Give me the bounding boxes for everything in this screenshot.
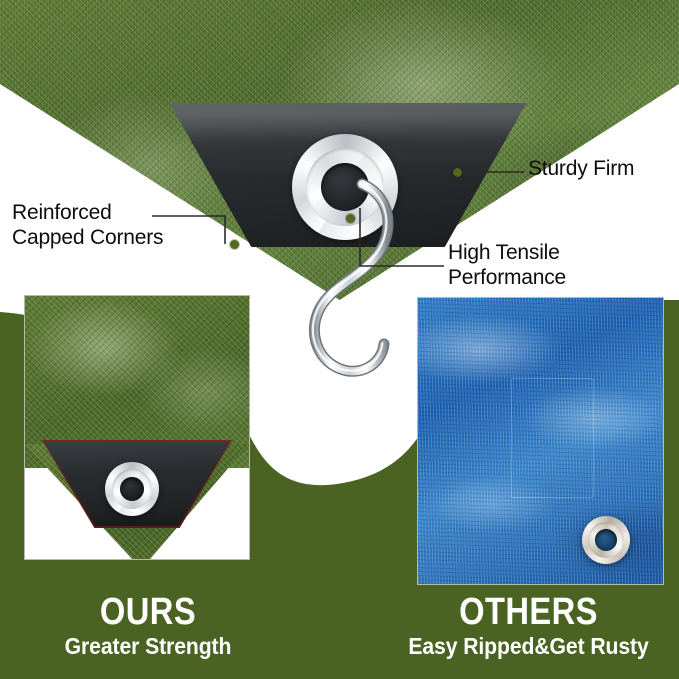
- callout-line: Capped Corners: [12, 225, 163, 250]
- grommet-hole: [595, 529, 617, 551]
- marker-dot-sturdy: [453, 168, 462, 177]
- ours-caption: OURS Greater Strength: [0, 592, 296, 660]
- ours-product-photo: [24, 295, 250, 560]
- ours-title: OURS: [21, 592, 276, 632]
- others-caption: OTHERS Easy Ripped&Get Rusty: [378, 592, 679, 660]
- marker-dot-tensile: [346, 214, 355, 223]
- callout-sturdy-firm: Sturdy Firm: [528, 156, 634, 181]
- others-subtitle: Easy Ripped&Get Rusty: [390, 632, 667, 660]
- callout-line: Performance: [448, 265, 566, 290]
- callout-high-tensile-performance: High Tensile Performance: [448, 240, 566, 290]
- callout-line: Reinforced: [12, 200, 163, 225]
- callout-line: High Tensile: [448, 240, 566, 265]
- marker-dot-reinforced: [230, 240, 239, 249]
- ours-subtitle: Greater Strength: [12, 632, 284, 660]
- ours-grommet-icon: [105, 462, 159, 516]
- infographic-canvas: Reinforced Capped Corners Sturdy Firm Hi…: [0, 0, 679, 679]
- callout-reinforced-capped-corners: Reinforced Capped Corners: [12, 200, 163, 250]
- others-rusty-grommet-icon: [582, 516, 630, 564]
- others-tarp-seam: [511, 378, 594, 498]
- others-title: OTHERS: [399, 592, 658, 632]
- others-product-photo: [417, 297, 664, 585]
- callout-line: Sturdy Firm: [528, 156, 634, 181]
